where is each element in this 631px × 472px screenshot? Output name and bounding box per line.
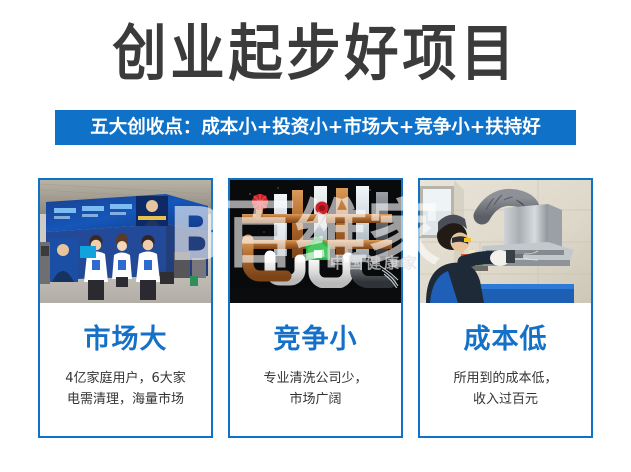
feature-card-desc-line: 4亿家庭用户，6大家: [46, 368, 206, 389]
feature-card-desc: 所用到的成本低， 收入过百元: [426, 368, 586, 410]
feature-card-title: 市场大: [84, 325, 168, 355]
feature-card-market[interactable]: 市场大 4亿家庭用户，6大家 电需清理，海量市场: [38, 178, 213, 438]
feature-card-desc-line: 市场广阔: [236, 389, 396, 410]
feature-card-title: 成本低: [464, 325, 548, 355]
subtitle-banner-text: 五大创收点：成本小+投资小+市场大+竞争小+扶持好: [90, 118, 541, 138]
page-title: 创业起步好项目: [0, 18, 631, 90]
feature-card-desc-line: 专业清洗公司少，: [236, 368, 396, 389]
feature-card-desc-line: 电需清理，海量市场: [46, 389, 206, 410]
feature-card-cost[interactable]: 成本低 所用到的成本低， 收入过百元: [418, 178, 593, 438]
pipes-cleaning-photo: [230, 180, 401, 303]
feature-card-row: 市场大 4亿家庭用户，6大家 电需清理，海量市场: [38, 178, 593, 440]
feature-card-desc-line: 所用到的成本低，: [426, 368, 586, 389]
feature-card-desc: 专业清洗公司少， 市场广阔: [236, 368, 396, 410]
subtitle-banner: 五大创收点：成本小+投资小+市场大+竞争小+扶持好: [55, 110, 576, 145]
promo-poster: 创业起步好项目 五大创收点：成本小+投资小+市场大+竞争小+扶持好: [0, 0, 631, 472]
feature-card-competition[interactable]: 竞争小 专业清洗公司少， 市场广阔: [228, 178, 403, 438]
range-hood-cleaning-photo: [420, 180, 591, 303]
feature-card-title: 竞争小: [274, 325, 358, 355]
exhibition-booth-photo: [40, 180, 211, 303]
feature-card-desc-line: 收入过百元: [426, 389, 586, 410]
feature-card-desc: 4亿家庭用户，6大家 电需清理，海量市场: [46, 368, 206, 410]
